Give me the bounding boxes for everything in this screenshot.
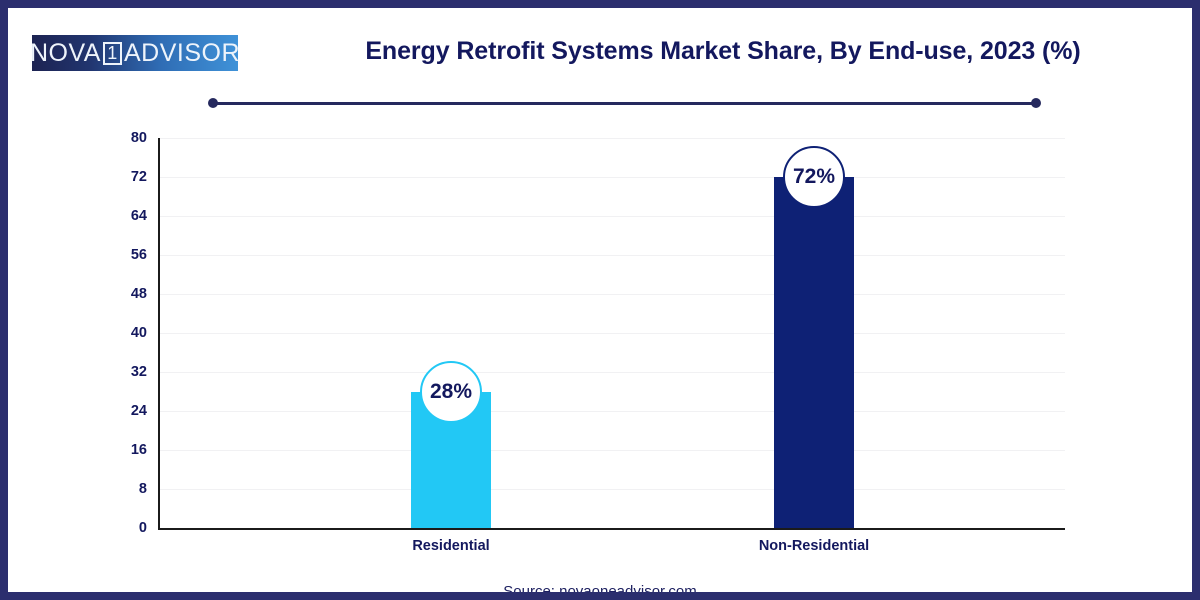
gridline: [158, 411, 1065, 412]
y-axis-line: [158, 138, 160, 528]
y-axis-tick-label: 16: [131, 442, 147, 458]
divider-dot-right-icon: [1031, 98, 1041, 108]
gridline: [158, 372, 1065, 373]
page-title: Energy Retrofit Systems Market Share, By…: [258, 37, 1188, 66]
gridline: [158, 450, 1065, 451]
logo-text-nova: NOVA: [30, 41, 101, 66]
x-axis-category-label: Residential: [412, 538, 489, 554]
y-axis-tick-label: 48: [131, 286, 147, 302]
gridline: [158, 138, 1065, 139]
x-axis-line: [158, 528, 1065, 530]
gridline: [158, 216, 1065, 217]
y-axis-tick-label: 40: [131, 325, 147, 341]
y-axis-tick-label: 8: [139, 481, 147, 497]
x-axis-category-label: Non-Residential: [759, 538, 869, 554]
y-axis-tick-label: 24: [131, 403, 147, 419]
title-divider: [208, 97, 1041, 109]
bar-value-badge: 72%: [783, 146, 845, 208]
gridline: [158, 489, 1065, 490]
logo-badge-one: 1: [103, 42, 122, 65]
divider-line: [213, 102, 1036, 105]
y-axis-tick-label: 56: [131, 247, 147, 263]
chart-page: NOVA 1 ADVISOR Energy Retrofit Systems M…: [0, 0, 1200, 600]
bar-value-badge: 28%: [420, 361, 482, 423]
logo-text-advisor: ADVISOR: [124, 41, 240, 66]
gridline: [158, 177, 1065, 178]
y-axis-tick-label: 80: [131, 130, 147, 146]
y-axis-tick-label: 32: [131, 364, 147, 380]
bar[interactable]: [774, 177, 854, 528]
source-note: Source: novaoneadvisor.com: [8, 583, 1192, 600]
nova-one-advisor-logo: NOVA 1 ADVISOR: [32, 35, 238, 71]
gridline: [158, 333, 1065, 334]
gridline: [158, 294, 1065, 295]
y-axis-tick-label: 0: [139, 520, 147, 536]
y-axis-tick-label: 72: [131, 169, 147, 185]
y-axis-tick-label: 64: [131, 208, 147, 224]
plot-area: 08162432404856647280 28%72% ResidentialN…: [158, 138, 1065, 528]
logo-text: NOVA 1 ADVISOR: [30, 41, 240, 66]
gridline: [158, 255, 1065, 256]
